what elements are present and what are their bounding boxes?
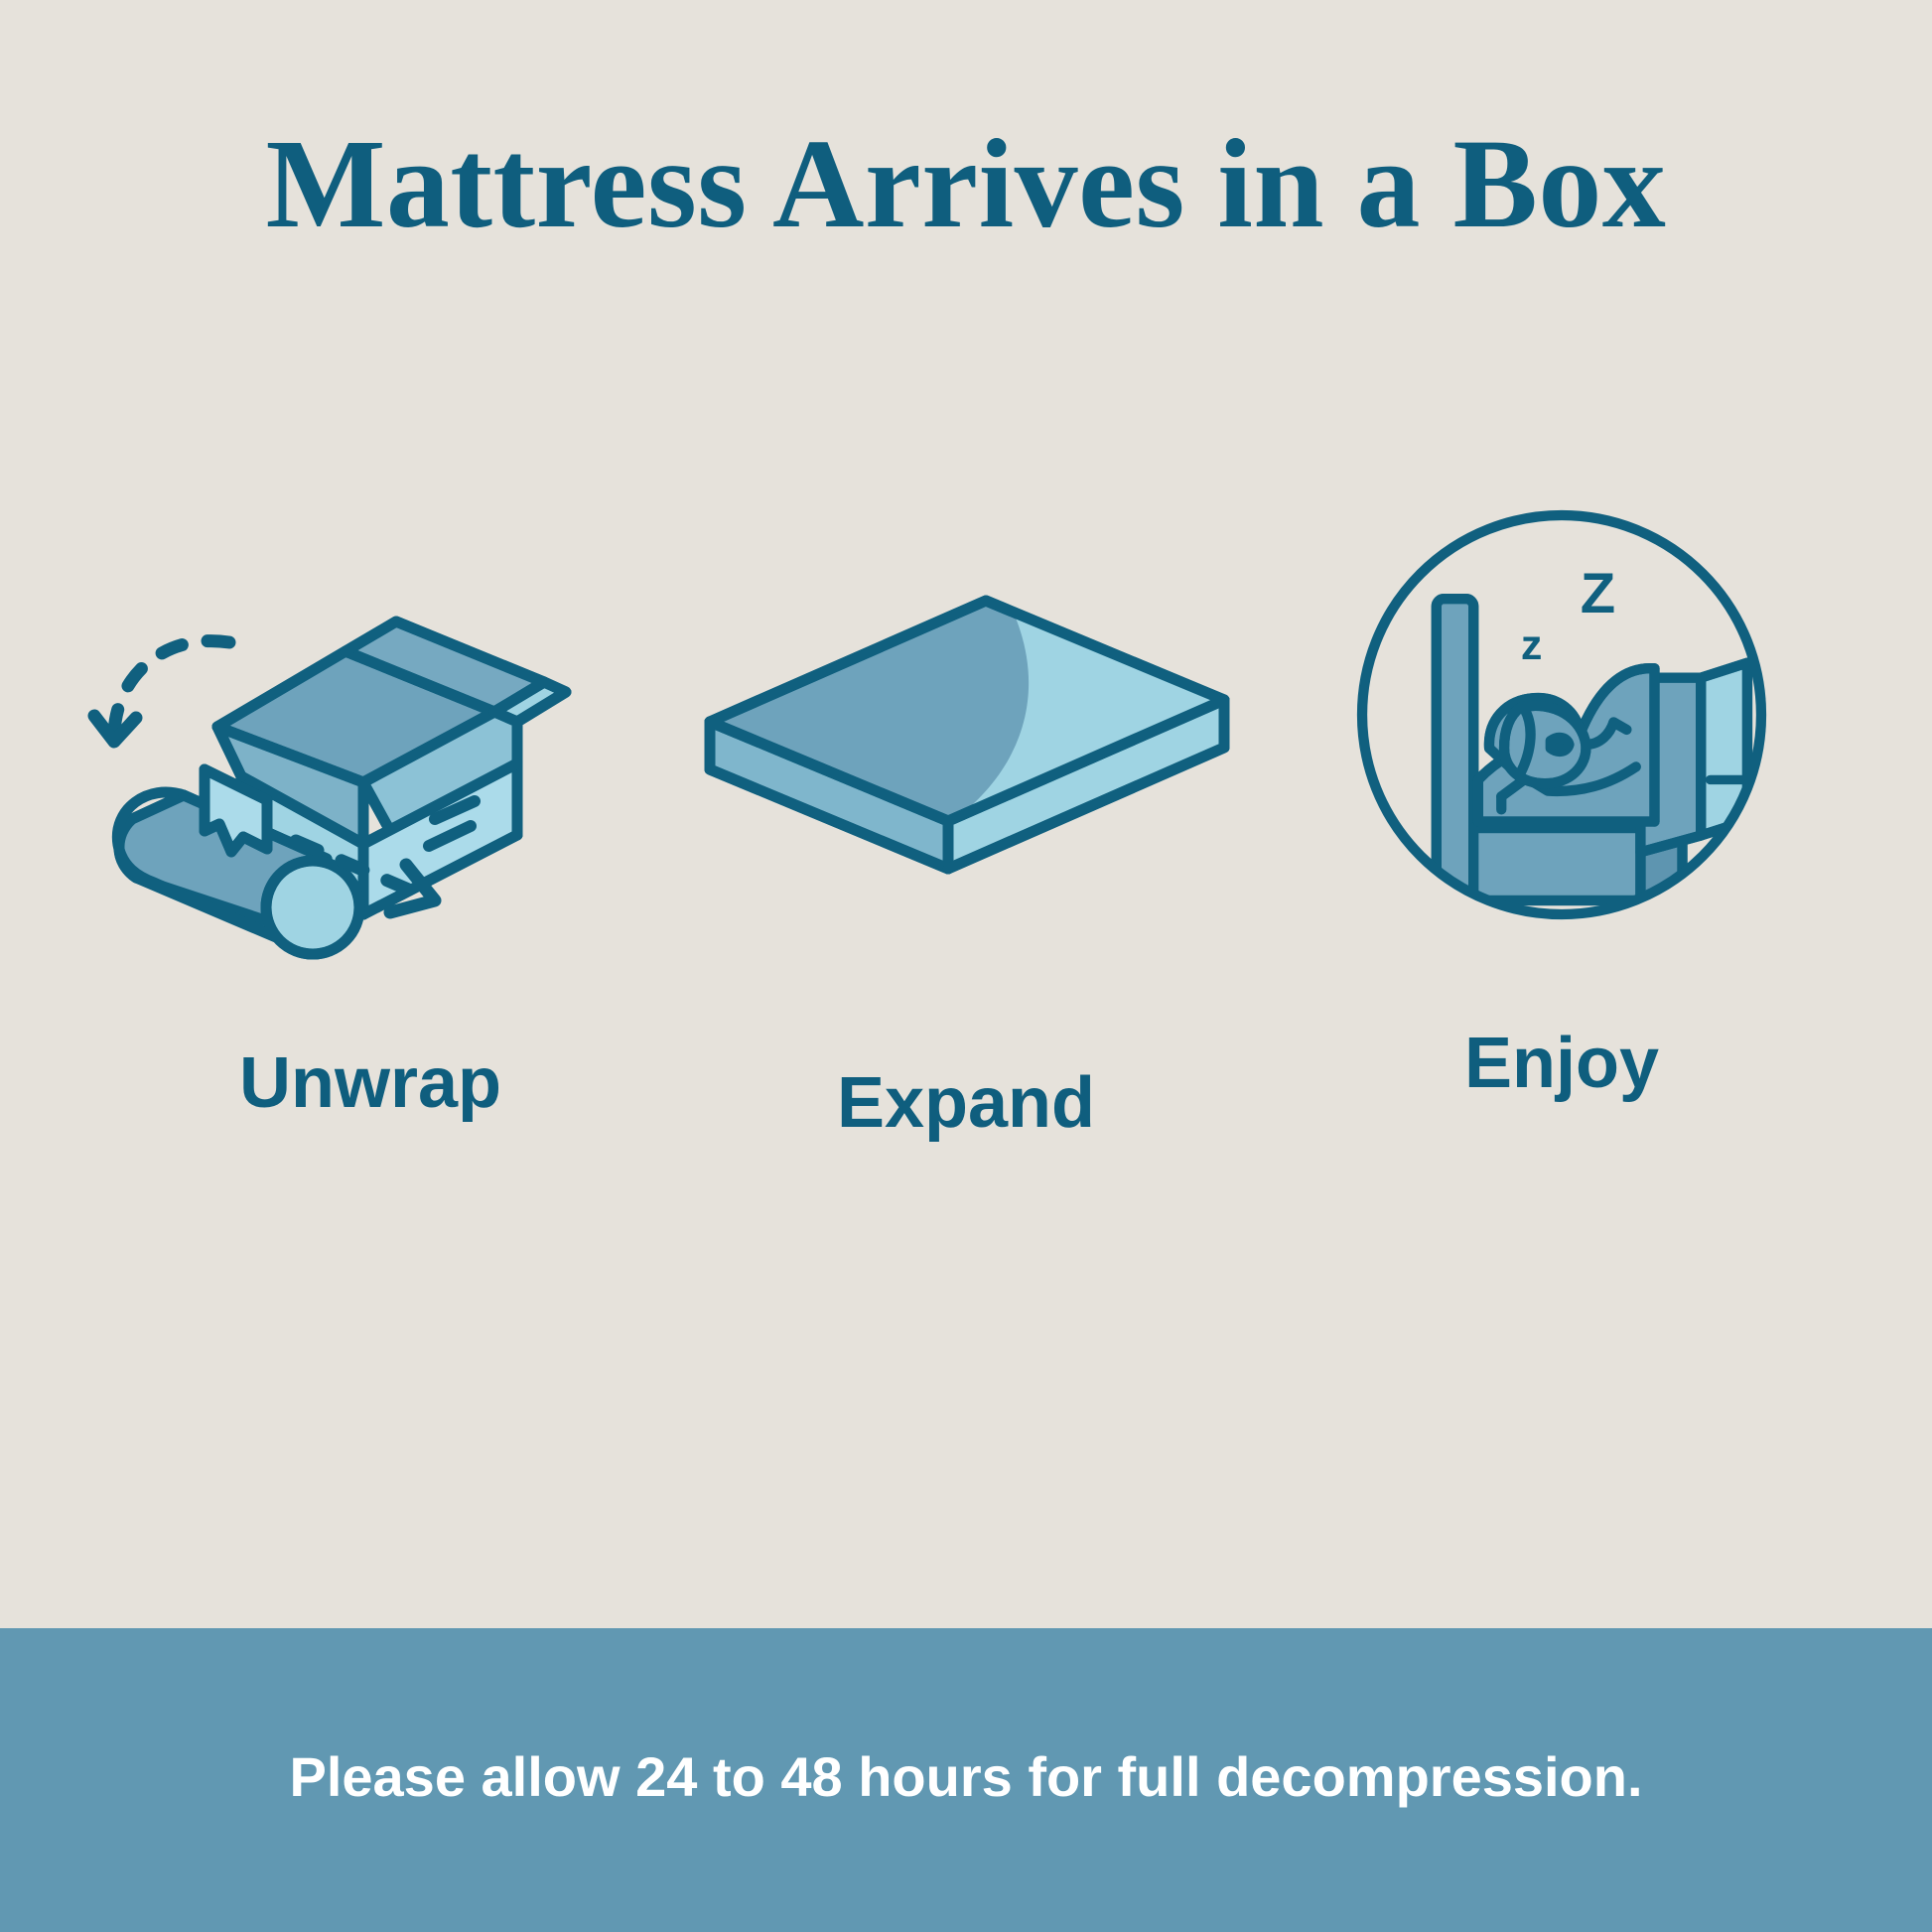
decompression-note: Please allow 24 to 48 hours for full dec… [289,1749,1642,1805]
bed-headboard-post [1437,599,1473,900]
step-expand: Expand [668,328,1264,1139]
enjoy-illustration: Z z [1284,501,1840,928]
sleep-z-small: z [1521,621,1543,669]
flat-mattress-slab-icon [688,541,1244,968]
expand-illustration [688,541,1244,968]
sleep-z-letters: Z z [1521,562,1615,669]
title-area: Mattress Arrives in a Box [0,0,1932,328]
unwrap-illustration [92,521,648,948]
person-sleeping-in-bed-circle-icon: Z z [1284,501,1840,928]
infographic-poster: Mattress Arrives in a Box [0,0,1932,1932]
step-label-unwrap: Unwrap [239,1047,501,1119]
curved-dashed-arrow-down-icon [94,641,229,742]
footer-banner: Please allow 24 to 48 hours for full dec… [0,1628,1932,1932]
step-unwrap: Unwrap [72,328,668,1119]
sleep-z-large: Z [1581,562,1615,625]
steps-row: Unwrap [0,328,1932,1628]
page-title: Mattress Arrives in a Box [266,120,1667,247]
open-box-with-rolled-mattress-icon [92,521,648,948]
step-label-expand: Expand [837,1067,1095,1139]
step-enjoy: Z z Enjoy [1264,328,1860,1099]
step-label-enjoy: Enjoy [1464,1028,1659,1099]
